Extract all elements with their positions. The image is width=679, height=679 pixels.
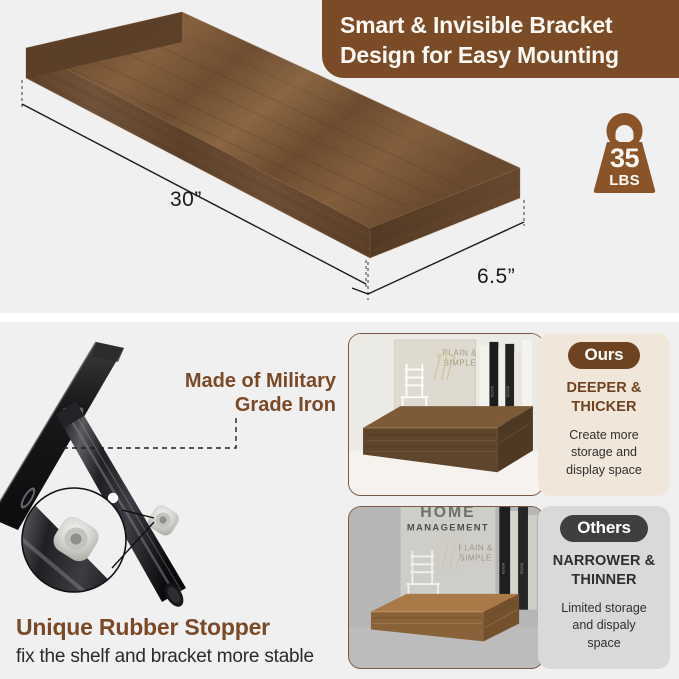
header-banner: Smart & Invisible Bracket Design for Eas… [322, 0, 679, 78]
others-body-line3: space [587, 636, 620, 650]
depth-dimension-label: 6.5” [477, 265, 515, 289]
comparison-row-others: HOME MANAGEMENT PLAIN & SIMPLE [348, 506, 670, 669]
ours-body-text: Create more storage and display space [566, 427, 642, 480]
military-grade-line2: Grade Iron [235, 394, 336, 416]
others-body-line2: and dispaly [572, 618, 635, 632]
others-photo-card: HOME MANAGEMENT PLAIN & SIMPLE [348, 506, 544, 669]
others-headline-line1: NARROWER & [553, 553, 656, 569]
others-headline-line2: THINNER [571, 572, 636, 588]
ours-headline: DEEPER & THICKER [567, 379, 642, 418]
ours-body-line3: display space [566, 463, 642, 477]
infographic-root: 30” 6.5” Smart & Invisible Bracket Desig… [0, 0, 679, 679]
rubber-stopper-caption-subtitle: fix the shelf and bracket more stable [16, 646, 314, 668]
comparison-column: PLAIN & SIMPLE [348, 333, 670, 671]
weight-icon [583, 112, 666, 196]
svg-text:SIMPLE: SIMPLE [459, 553, 492, 562]
others-headline: NARROWER & THINNER [553, 552, 656, 591]
weight-capacity-badge: 35 LBS [583, 112, 666, 196]
svg-text:HOME: HOME [420, 507, 475, 521]
others-badge: Others [560, 515, 648, 542]
ours-badge: Ours [568, 342, 641, 369]
length-dimension-label: 30” [170, 188, 202, 212]
svg-text:SIMPLE: SIMPLE [444, 359, 477, 368]
thin-shelf-with-books-photo: HOME MANAGEMENT PLAIN & SIMPLE [349, 507, 543, 668]
svg-text:BOOK: BOOK [519, 562, 524, 574]
top-panel: 30” 6.5” Smart & Invisible Bracket Desig… [0, 0, 679, 313]
thick-shelf-with-books-photo: PLAIN & SIMPLE [349, 334, 543, 495]
ours-headline-line2: THICKER [571, 399, 636, 415]
svg-text:BOOK: BOOK [500, 562, 505, 574]
others-body-text: Limited storage and dispaly space [561, 600, 646, 653]
wall-bracket-icon [0, 322, 340, 612]
bracket-illustration [0, 322, 340, 612]
ours-body-line2: storage and [571, 445, 637, 459]
military-grade-feature-title: Made of Military Grade Iron [158, 369, 336, 418]
ours-info-card: Ours DEEPER & THICKER Create more storag… [538, 333, 670, 496]
svg-text:BOOK: BOOK [505, 385, 510, 397]
header-title-line2: Design for Easy Mounting [340, 41, 665, 71]
bottom-panel: Made of Military Grade Iron Unique Rubbe… [0, 322, 679, 679]
ours-body-line1: Create more [569, 428, 638, 442]
svg-text:MANAGEMENT: MANAGEMENT [407, 523, 489, 533]
header-title-line1: Smart & Invisible Bracket [340, 11, 665, 41]
rubber-stopper-caption-title: Unique Rubber Stopper [16, 614, 270, 641]
ours-headline-line1: DEEPER & [567, 380, 642, 396]
comparison-row-ours: PLAIN & SIMPLE [348, 333, 670, 496]
ours-photo-card: PLAIN & SIMPLE [348, 333, 544, 496]
others-body-line1: Limited storage [561, 601, 646, 615]
others-info-card: Others NARROWER & THINNER Limited storag… [538, 506, 670, 669]
military-grade-line1: Made of Military [185, 370, 336, 392]
svg-text:BOOK: BOOK [489, 385, 494, 397]
